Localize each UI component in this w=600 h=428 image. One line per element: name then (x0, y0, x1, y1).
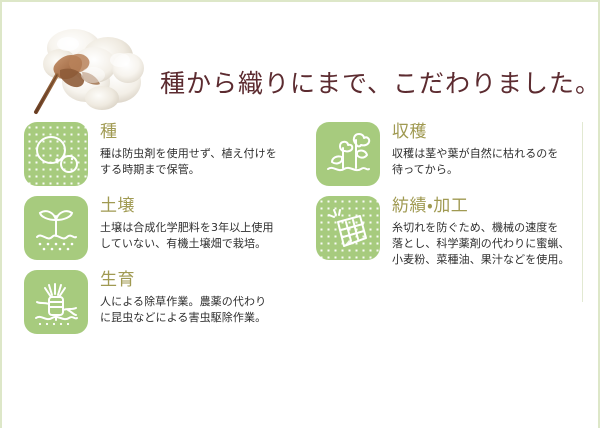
body-line: 種は防虫剤を使用せず、植え付けを (100, 146, 314, 162)
page-header: 種から織りにまで、こだわりました。 (2, 2, 598, 120)
body-line: 落とし、科学薬剤の代わりに蜜蝋、 (392, 236, 600, 252)
feature-harvest-heading: 収穫 (392, 122, 600, 143)
feature-soil-body: 土壌は合成化学肥料を3年以上使用 していない、有機土壌畑で栽培。 (100, 220, 314, 252)
page-title: 種から織りにまで、こだわりました。 (160, 64, 600, 100)
body-line: 糸切れを防ぐため、機械の速度を (392, 220, 600, 236)
feature-soil-text: 土壌 土壌は合成化学肥料を3年以上使用 していない、有機土壌畑で栽培。 (88, 196, 314, 252)
feature-spinning-text: 紡績・加工 糸切れを防ぐため、機械の速度を 落とし、科学薬剤の代わりに蜜蝋、 小… (380, 196, 600, 268)
growing-plant-icon (24, 270, 88, 334)
cotton-boll-image (24, 20, 156, 124)
feature-soil: 土壌 土壌は合成化学肥料を3年以上使用 していない、有機土壌畑で栽培。 (24, 196, 314, 260)
feature-seed-text: 種 種は防虫剤を使用せず、植え付けを する時期まで保管。 (88, 122, 314, 178)
body-line: 人による除草作業。農薬の代わり (100, 294, 314, 310)
feature-seed: 種 種は防虫剤を使用せず、植え付けを する時期まで保管。 (24, 122, 314, 186)
left-column: 種 種は防虫剤を使用せず、植え付けを する時期まで保管。 (24, 122, 314, 344)
feature-harvest-text: 収穫 収穫は茎や葉が自然に枯れるのを 待ってから。 (380, 122, 600, 178)
feature-seed-body: 種は防虫剤を使用せず、植え付けを する時期まで保管。 (100, 146, 314, 178)
body-line: していない、有機土壌畑で栽培。 (100, 236, 314, 252)
seed-icon (24, 122, 88, 186)
body-line: 土壌は合成化学肥料を3年以上使用 (100, 220, 314, 236)
feature-growth-heading: 生育 (100, 270, 314, 291)
feature-harvest: 収穫 収穫は茎や葉が自然に枯れるのを 待ってから。 (316, 122, 600, 186)
body-line: 待ってから。 (392, 162, 600, 178)
feature-seed-heading: 種 (100, 122, 314, 143)
feature-spinning-body: 糸切れを防ぐため、機械の速度を 落とし、科学薬剤の代わりに蜜蝋、 小麦粉、菜種油… (392, 220, 600, 268)
body-line: する時期まで保管。 (100, 162, 314, 178)
feature-spinning: 紡績・加工 糸切れを防ぐため、機械の速度を 落とし、科学薬剤の代わりに蜜蝋、 小… (316, 196, 600, 268)
infographic-page: 種から織りにまで、こだわりました。 種 (0, 0, 600, 428)
feature-spinning-heading: 紡績・加工 (392, 196, 600, 217)
feature-growth-body: 人による除草作業。農薬の代わり に昆虫などによる害虫駆除作業。 (100, 294, 314, 326)
sprout-soil-icon (24, 196, 88, 260)
body-line: 収穫は茎や葉が自然に枯れるのを (392, 146, 600, 162)
body-line: に昆虫などによる害虫駆除作業。 (100, 310, 314, 326)
feature-soil-heading: 土壌 (100, 196, 314, 217)
body-line: 小麦粉、菜種油、果汁などを使用。 (392, 252, 600, 268)
feature-growth: 生育 人による除草作業。農薬の代わり に昆虫などによる害虫駆除作業。 (24, 270, 314, 334)
feature-growth-text: 生育 人による除草作業。農薬の代わり に昆虫などによる害虫駆除作業。 (88, 270, 314, 326)
cotton-plant-icon (316, 122, 380, 186)
feature-harvest-body: 収穫は茎や葉が自然に枯れるのを 待ってから。 (392, 146, 600, 178)
right-column: 収穫 収穫は茎や葉が自然に枯れるのを 待ってから。 (316, 122, 600, 278)
woven-fabric-icon (316, 196, 380, 260)
